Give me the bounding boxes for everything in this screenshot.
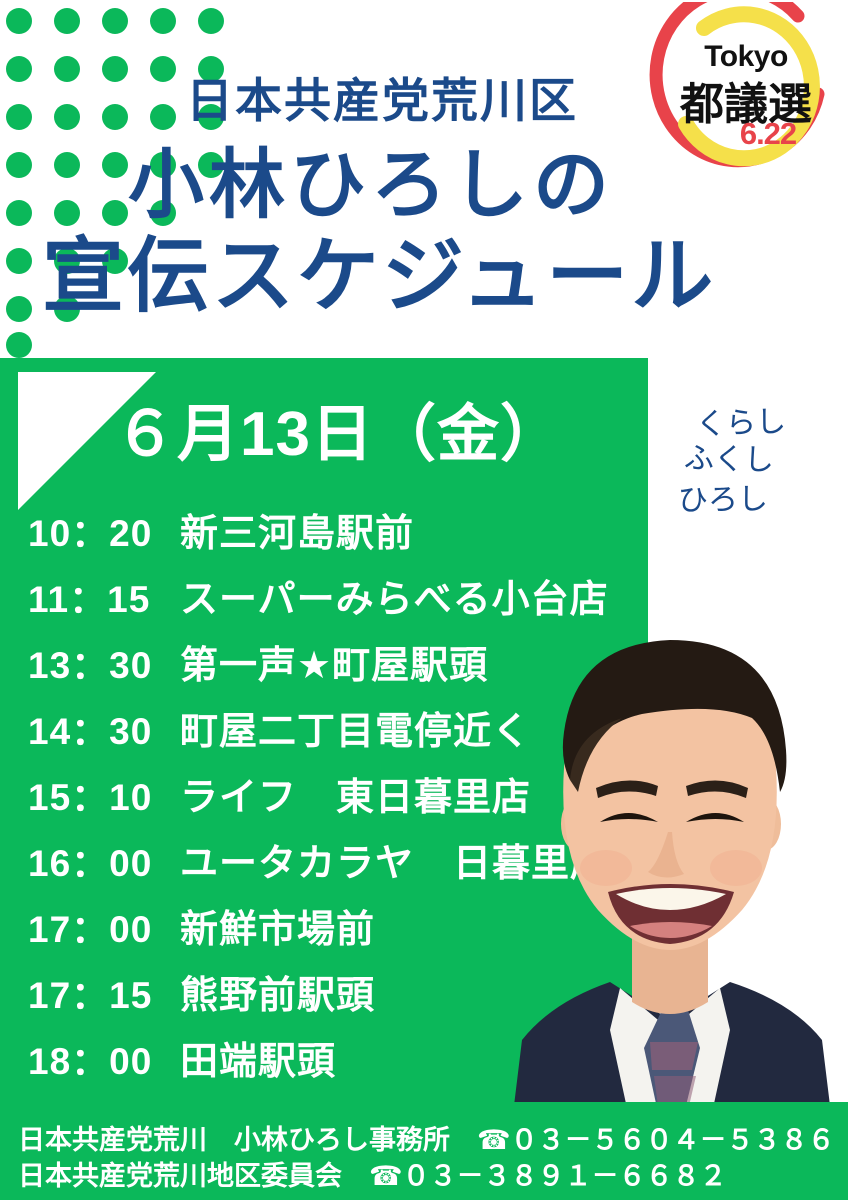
schedule-time: 13：30 [28,635,180,689]
tokyo-election-logo: Tokyo 都議選 6.22 [648,2,844,182]
campaign-schedule-poster: 日本共産党荒川区 小林ひろしの 宣伝スケジュール Tokyo 都議選 6.22 … [0,0,848,1200]
footer-contact-band: 日本共産党荒川 小林ひろし事務所 ☎０３－５６０４－５３８６ 日本共産党荒川地区… [0,1102,848,1200]
schedule-place: 熊野前駅頭 [180,964,375,1019]
schedule-time: 10：20 [28,503,180,557]
candidate-name-heading: 小林ひろしの [128,148,614,224]
footer-office-contact: 日本共産党荒川 小林ひろし事務所 ☎０３－５６０４－５３８６ [18,1118,835,1157]
schedule-time: 11：15 [28,569,180,623]
page-title: 宣伝スケジュール [42,236,716,318]
schedule-place: 田端駅頭 [180,1030,336,1085]
handwritten-slogan: くらし ふくし ひろし [678,404,838,519]
schedule-time: 17：00 [28,899,180,953]
schedule-place: 新鮮市場前 [180,898,375,953]
schedule-place: ライフ 東日暮里店 [180,766,531,821]
schedule-time: 14：30 [28,701,180,755]
schedule-time: 17：15 [28,965,180,1019]
schedule-place: 新三河島駅前 [180,502,414,557]
schedule-time: 16：00 [28,833,180,887]
slogan-line-1: くらし [695,402,838,445]
schedule-place: 第一声★町屋駅頭 [180,634,488,689]
slogan-line-3: ひろし [678,479,839,520]
schedule-row: 10：20新三河島駅前 [0,502,648,568]
party-district-label: 日本共産党荒川区 [186,62,578,131]
slogan-line-2: ふくし [684,440,839,482]
logo-election-date: 6.22 [670,116,848,152]
schedule-time: 15：10 [28,767,180,821]
footer-committee-contact: 日本共産党荒川地区委員会 ☎０３－３８９１－６６８２ [18,1154,727,1193]
schedule-place: 町屋二丁目電停近く [180,700,531,755]
schedule-time: 18：00 [28,1031,180,1085]
candidate-portrait-illustration [492,610,848,1122]
schedule-date-heading: ６月13日（金） [114,404,563,466]
candidate-portrait-photo [492,610,848,1122]
